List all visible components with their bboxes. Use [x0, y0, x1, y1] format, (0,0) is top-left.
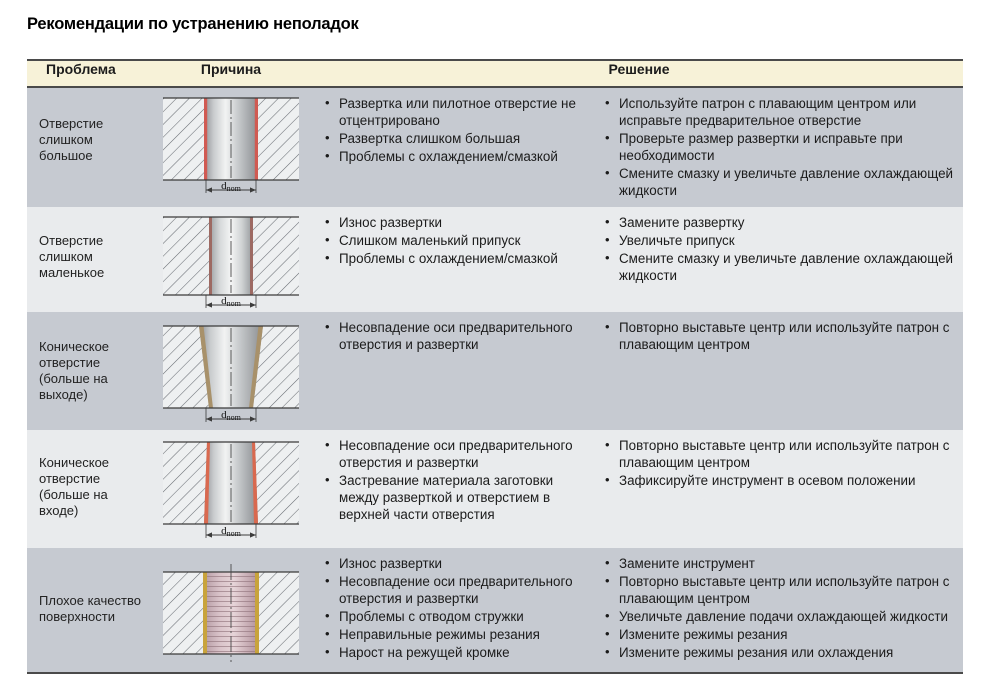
- list-item: Развертка или пилотное отверстие не отце…: [337, 95, 589, 129]
- problem-label: Коническое отверстие (больше на выходе): [39, 339, 143, 403]
- solution-cell: Повторно выставьте центр или используйте…: [595, 312, 963, 430]
- poor-surface-finish-diagram: [155, 554, 307, 672]
- list-item: Проверьте размер развертки и исправьте п…: [617, 130, 957, 164]
- tapered-hole-larger-at-entry-diagram: dnom: [155, 436, 307, 548]
- cause-list: Несовпадение оси предварительного отверс…: [315, 312, 595, 361]
- list-item: Смените смазку и увеличьте давление охла…: [617, 250, 957, 284]
- table-row: Отверстие слишком маленькое: [27, 207, 963, 312]
- list-item: Износ развертки: [337, 214, 589, 231]
- cause-cell: Износ развертки Слишком маленький припус…: [315, 207, 595, 312]
- list-item: Проблемы с охлаждением/смазкой: [337, 148, 589, 165]
- solution-cell: Замените инструмент Повторно выставьте ц…: [595, 548, 963, 673]
- column-header-cause: Причина: [147, 60, 315, 87]
- cause-cell: Развертка или пилотное отверстие не отце…: [315, 87, 595, 207]
- list-item: Увеличьте припуск: [617, 232, 957, 249]
- list-item: Повторно выставьте центр или используйте…: [617, 573, 957, 607]
- solution-cell: Используйте патрон с плавающим центром и…: [595, 87, 963, 207]
- figure-cell: dnom: [147, 87, 315, 207]
- problem-cell: Отверстие слишком большое: [27, 87, 147, 207]
- tapered-hole-larger-at-exit-diagram: dnom: [155, 318, 307, 430]
- solution-cell: Повторно выставьте центр или используйте…: [595, 430, 963, 548]
- list-item: Замените развертку: [617, 214, 957, 231]
- list-item: Нарост на режущей кромке: [337, 644, 589, 661]
- table-row: Коническое отверстие (больше на выходе): [27, 312, 963, 430]
- solution-cell: Замените развертку Увеличьте припуск Сме…: [595, 207, 963, 312]
- figure-cell: dnom: [147, 207, 315, 312]
- hole-too-large-diagram: dnom: [155, 94, 307, 198]
- list-item: Несовпадение оси предварительного отверс…: [337, 437, 589, 471]
- page-title: Рекомендации по устранению неполадок: [27, 15, 359, 34]
- list-item: Зафиксируйте инструмент в осевом положен…: [617, 472, 957, 489]
- problem-label: Плохое качество поверхности: [39, 593, 143, 625]
- problem-label: Отверстие слишком большое: [39, 116, 143, 164]
- list-item: Неправильные режимы резания: [337, 626, 589, 643]
- problem-cell: Отверстие слишком маленькое: [27, 207, 147, 312]
- solution-list: Замените развертку Увеличьте припуск Сме…: [595, 207, 963, 292]
- solution-list: Повторно выставьте центр или используйте…: [595, 430, 963, 497]
- solution-list: Используйте патрон с плавающим центром и…: [595, 88, 963, 207]
- cause-list: Износ развертки Несовпадение оси предвар…: [315, 548, 595, 669]
- list-item: Измените режимы резания или охлаждения: [617, 644, 957, 661]
- list-item: Повторно выставьте центр или используйте…: [617, 319, 957, 353]
- list-item: Проблемы с отводом стружки: [337, 608, 589, 625]
- list-item: Замените инструмент: [617, 555, 957, 572]
- list-item: Слишком маленький припуск: [337, 232, 589, 249]
- problem-label: Отверстие слишком маленькое: [39, 233, 143, 281]
- cause-list: Развертка или пилотное отверстие не отце…: [315, 88, 595, 173]
- cause-list: Несовпадение оси предварительного отверс…: [315, 430, 595, 531]
- dimension-label: dnom: [221, 525, 242, 538]
- cause-cell: Несовпадение оси предварительного отверс…: [315, 312, 595, 430]
- list-item: Увеличьте давление подачи охлаждающей жи…: [617, 608, 957, 625]
- figure-cell: dnom: [147, 312, 315, 430]
- list-item: Смените смазку и увеличьте давление охла…: [617, 165, 957, 199]
- problem-cell: Плохое качество поверхности: [27, 548, 147, 673]
- list-item: Несовпадение оси предварительного отверс…: [337, 573, 589, 607]
- hole-too-small-diagram: dnom: [155, 213, 307, 312]
- solution-list: Замените инструмент Повторно выставьте ц…: [595, 548, 963, 669]
- table-row: Коническое отверстие (больше на входе): [27, 430, 963, 548]
- figure-cell: dnom: [147, 430, 315, 548]
- figure-cell: [147, 548, 315, 673]
- table-header-row: Проблема Причина Решение: [27, 60, 963, 87]
- list-item: Развертка слишком большая: [337, 130, 589, 147]
- column-header-solution: Решение: [315, 60, 963, 87]
- problem-label: Коническое отверстие (больше на входе): [39, 455, 143, 519]
- dimension-label: dnom: [221, 409, 242, 422]
- dimension-label: dnom: [221, 295, 242, 308]
- dimension-label: dnom: [221, 180, 242, 193]
- list-item: Проблемы с охлаждением/смазкой: [337, 250, 589, 267]
- list-item: Износ развертки: [337, 555, 589, 572]
- table-body: Отверстие слишком большое: [27, 87, 963, 673]
- problem-cell: Коническое отверстие (больше на входе): [27, 430, 147, 548]
- cause-cell: Несовпадение оси предварительного отверс…: [315, 430, 595, 548]
- table-row: Плохое качество поверхности Износ разв: [27, 548, 963, 673]
- troubleshooting-table: Проблема Причина Решение Отверстие слишк…: [27, 59, 963, 674]
- list-item: Несовпадение оси предварительного отверс…: [337, 319, 589, 353]
- list-item: Используйте патрон с плавающим центром и…: [617, 95, 957, 129]
- table-row: Отверстие слишком большое: [27, 87, 963, 207]
- problem-cell: Коническое отверстие (больше на выходе): [27, 312, 147, 430]
- list-item: Измените режимы резания: [617, 626, 957, 643]
- solution-list: Повторно выставьте центр или используйте…: [595, 312, 963, 361]
- column-header-problem: Проблема: [27, 60, 147, 87]
- cause-cell: Износ развертки Несовпадение оси предвар…: [315, 548, 595, 673]
- list-item: Застревание материала заготовки между ра…: [337, 472, 589, 523]
- cause-list: Износ развертки Слишком маленький припус…: [315, 207, 595, 275]
- list-item: Повторно выставьте центр или используйте…: [617, 437, 957, 471]
